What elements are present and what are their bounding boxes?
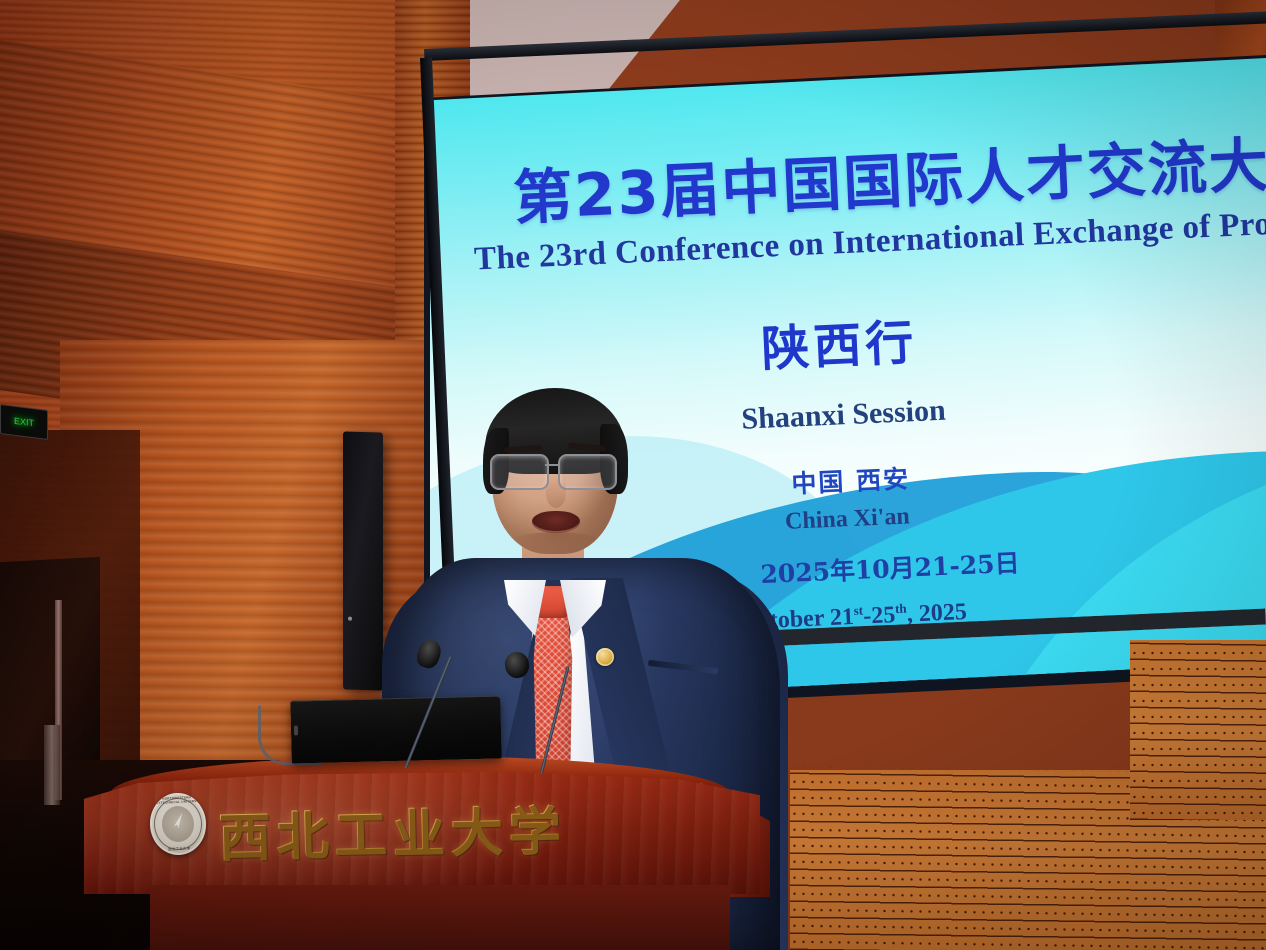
lapel-pin-icon <box>596 648 614 666</box>
eyeglass-lens-left <box>490 454 549 490</box>
eyeglass-bridge <box>545 464 560 466</box>
wall-perforated-acoustic-panel-right <box>1130 640 1266 820</box>
speaker-mouth <box>532 511 580 533</box>
wall-column-loudspeaker <box>343 431 383 690</box>
podium-university-name: 西北工业大学 <box>217 788 567 870</box>
slide-city-cn: 中国 西安 <box>791 459 911 500</box>
emergency-exit-sign: EXIT <box>0 404 48 440</box>
seal-text-top: NORTHWESTERN POLYTECHNICAL UNIVERSITY <box>149 795 205 806</box>
slide-city-en: China Xi'an <box>785 503 911 536</box>
university-seal-icon: NORTHWESTERN POLYTECHNICAL UNIVERSITY 西北… <box>148 792 207 857</box>
speaker-nose <box>546 478 566 508</box>
equipment-stand-base <box>44 725 60 805</box>
slide-session-cn: 陕西行 <box>760 303 919 380</box>
speaker-chin-shadow <box>510 532 602 554</box>
podium-laptop-display[interactable] <box>290 695 501 763</box>
podium-base <box>150 885 730 950</box>
exit-sign-label: EXIT <box>14 416 34 428</box>
conference-photo-scene: EXIT 第23届中国国际人才交流大会 The 23rd Conference … <box>0 0 1266 950</box>
eyeglass-lens-right <box>558 454 617 490</box>
